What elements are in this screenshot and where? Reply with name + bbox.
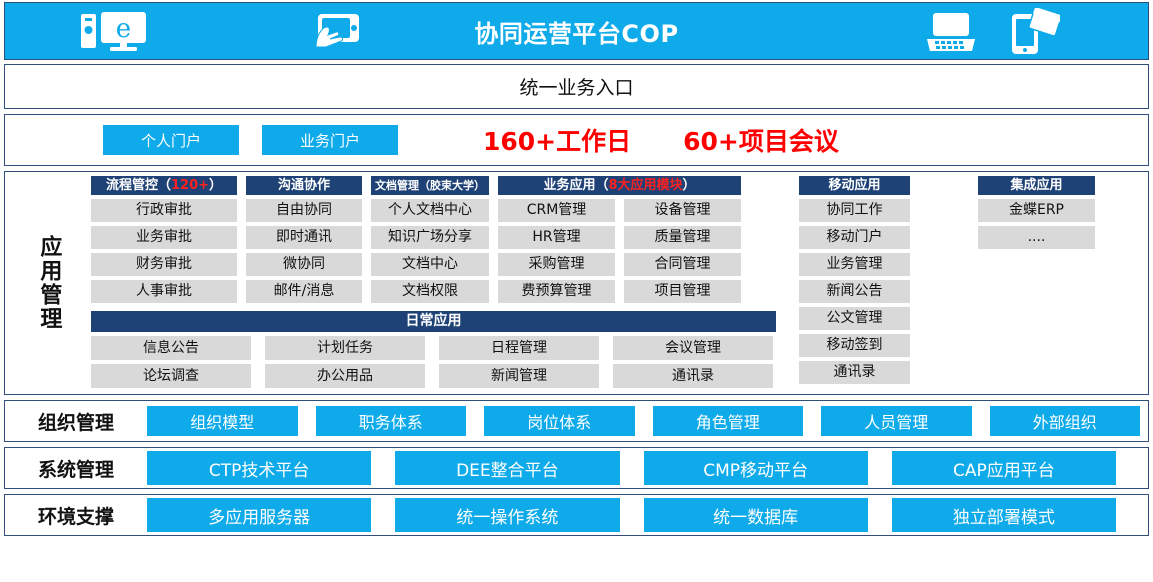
app-item[interactable]: HR管理 — [498, 226, 615, 249]
app-group-integration: 集成应用 金蝶ERP .... — [978, 176, 1095, 249]
app-item[interactable]: 文档权限 — [371, 280, 489, 303]
portal-row: 个人门户 业务门户 160+工作日 60+项目会议 — [4, 114, 1149, 166]
environment-support-row: 环境支撑 多应用服务器 统一操作系统 统一数据库 独立部署模式 — [4, 494, 1149, 536]
kpi-project-meetings: 60+项目会议 — [683, 122, 839, 158]
app-item[interactable]: 个人文档中心 — [371, 199, 489, 222]
daily-applications-rows: 信息公告 计划任务 日程管理 会议管理 论坛调查 办公用品 新闻管理 通讯录 — [91, 336, 776, 392]
app-item[interactable]: 质量管理 — [624, 226, 741, 249]
application-management-panel: 应用管理 流程管控（120+） 行政审批 业务审批 财务审批 人事审批 沟通协作… — [4, 171, 1149, 395]
phone-tablet-icon — [1008, 8, 1060, 56]
app-item[interactable]: 自由协同 — [246, 199, 362, 222]
daily-item[interactable]: 论坛调查 — [91, 364, 251, 388]
daily-applications-block: 日常应用 信息公告 计划任务 日程管理 会议管理 论坛调查 办公用品 新闻管理 … — [91, 311, 776, 392]
system-management-items: CTP技术平台 DEE整合平台 CMP移动平台 CAP应用平台 — [147, 451, 1148, 485]
app-group-mobile: 移动应用 协同工作 移动门户 业务管理 新闻公告 公文管理 移动签到 通讯录 — [799, 176, 910, 384]
daily-item[interactable]: 办公用品 — [265, 364, 425, 388]
portal-button-business[interactable]: 业务门户 — [262, 125, 398, 155]
daily-item[interactable]: 计划任务 — [265, 336, 425, 360]
daily-item[interactable]: 新闻管理 — [439, 364, 599, 388]
app-header-bar: e 协同运营平台COP — [4, 2, 1149, 60]
app-item[interactable]: 人事审批 — [91, 280, 237, 303]
app-item[interactable]: 合同管理 — [624, 253, 741, 276]
kpi-workdays: 160+工作日 — [483, 122, 631, 158]
app-item[interactable]: 项目管理 — [624, 280, 741, 303]
app-item[interactable]: 业务管理 — [799, 253, 910, 276]
app-group-header-process-control: 流程管控（120+） — [91, 176, 237, 195]
daily-item[interactable]: 日程管理 — [439, 336, 599, 360]
organization-management-items: 组织模型 职务体系 岗位体系 角色管理 人员管理 外部组织 — [147, 406, 1148, 436]
app-item[interactable]: 金蝶ERP — [978, 199, 1095, 222]
app-group-document: 文档管理（胶束大学） 个人文档中心 知识广场分享 文档中心 文档权限 — [371, 176, 489, 303]
app-group-process-control: 流程管控（120+） 行政审批 业务审批 财务审批 人事审批 — [91, 176, 237, 303]
app-group-header-document: 文档管理（胶束大学） — [371, 176, 489, 195]
app-item[interactable]: 新闻公告 — [799, 280, 910, 303]
daily-row: 论坛调查 办公用品 新闻管理 通讯录 — [91, 364, 776, 392]
sys-chip[interactable]: DEE整合平台 — [395, 451, 619, 485]
system-management-row: 系统管理 CTP技术平台 DEE整合平台 CMP移动平台 CAP应用平台 — [4, 447, 1149, 489]
app-group-header-business: 业务应用（8大应用模块） — [498, 176, 741, 195]
env-chip[interactable]: 统一操作系统 — [395, 498, 619, 532]
app-group-business-col-left: CRM管理 HR管理 采购管理 费预算管理 — [498, 195, 615, 303]
app-item[interactable]: 移动门户 — [799, 226, 910, 249]
sys-chip[interactable]: CAP应用平台 — [892, 451, 1116, 485]
daily-item[interactable]: 信息公告 — [91, 336, 251, 360]
env-chip[interactable]: 多应用服务器 — [147, 498, 371, 532]
app-item[interactable]: 文档中心 — [371, 253, 489, 276]
portal-button-personal[interactable]: 个人门户 — [103, 125, 239, 155]
org-chip[interactable]: 岗位体系 — [484, 406, 635, 436]
app-item[interactable]: 即时通讯 — [246, 226, 362, 249]
env-chip[interactable]: 统一数据库 — [644, 498, 868, 532]
app-item[interactable]: 知识广场分享 — [371, 226, 489, 249]
app-group-header-communication: 沟通协作 — [246, 176, 362, 195]
app-item[interactable]: 财务审批 — [91, 253, 237, 276]
daily-item[interactable]: 通讯录 — [613, 364, 773, 388]
daily-row: 信息公告 计划任务 日程管理 会议管理 — [91, 336, 776, 364]
org-chip[interactable]: 人员管理 — [821, 406, 972, 436]
app-item[interactable]: 公文管理 — [799, 307, 910, 330]
env-chip[interactable]: 独立部署模式 — [892, 498, 1116, 532]
app-item[interactable]: CRM管理 — [498, 199, 615, 222]
app-item[interactable]: 采购管理 — [498, 253, 615, 276]
environment-support-items: 多应用服务器 统一操作系统 统一数据库 独立部署模式 — [147, 498, 1148, 532]
app-item[interactable]: 协同工作 — [799, 199, 910, 222]
organization-management-row: 组织管理 组织模型 职务体系 岗位体系 角色管理 人员管理 外部组织 — [4, 400, 1149, 442]
org-chip[interactable]: 职务体系 — [316, 406, 467, 436]
unified-entry-label: 统一业务入口 — [519, 73, 633, 100]
app-group-communication: 沟通协作 自由协同 即时通讯 微协同 邮件/消息 — [246, 176, 362, 303]
environment-support-label: 环境支撑 — [5, 502, 147, 529]
application-management-body: 流程管控（120+） 行政审批 业务审批 财务审批 人事审批 沟通协作 自由协同… — [91, 172, 1148, 394]
laptop-icon — [923, 11, 979, 53]
app-item[interactable]: 业务审批 — [91, 226, 237, 249]
organization-management-label: 组织管理 — [5, 408, 147, 435]
cop-architecture-diagram: e 协同运营平台COP — [0, 0, 1153, 582]
app-group-header-mobile: 移动应用 — [799, 176, 910, 195]
application-management-label: 应用管理 — [5, 172, 91, 394]
app-item[interactable]: 行政审批 — [91, 199, 237, 222]
org-chip[interactable]: 组织模型 — [147, 406, 298, 436]
app-item[interactable]: 微协同 — [246, 253, 362, 276]
app-item[interactable]: 移动签到 — [799, 334, 910, 357]
app-item[interactable]: 通讯录 — [799, 361, 910, 384]
app-item[interactable]: .... — [978, 226, 1095, 249]
app-item[interactable]: 设备管理 — [624, 199, 741, 222]
org-chip[interactable]: 外部组织 — [990, 406, 1141, 436]
app-item[interactable]: 费预算管理 — [498, 280, 615, 303]
app-item[interactable]: 邮件/消息 — [246, 280, 362, 303]
sys-chip[interactable]: CTP技术平台 — [147, 451, 371, 485]
app-group-business: 业务应用（8大应用模块） CRM管理 HR管理 采购管理 费预算管理 设备管理 … — [498, 176, 741, 303]
daily-item[interactable]: 会议管理 — [613, 336, 773, 360]
sys-chip[interactable]: CMP移动平台 — [644, 451, 868, 485]
daily-applications-header: 日常应用 — [91, 311, 776, 332]
org-chip[interactable]: 角色管理 — [653, 406, 804, 436]
unified-business-entry: 统一业务入口 — [4, 64, 1149, 109]
system-management-label: 系统管理 — [5, 455, 147, 482]
app-group-header-integration: 集成应用 — [978, 176, 1095, 195]
app-group-business-col-right: 设备管理 质量管理 合同管理 项目管理 — [624, 195, 741, 303]
